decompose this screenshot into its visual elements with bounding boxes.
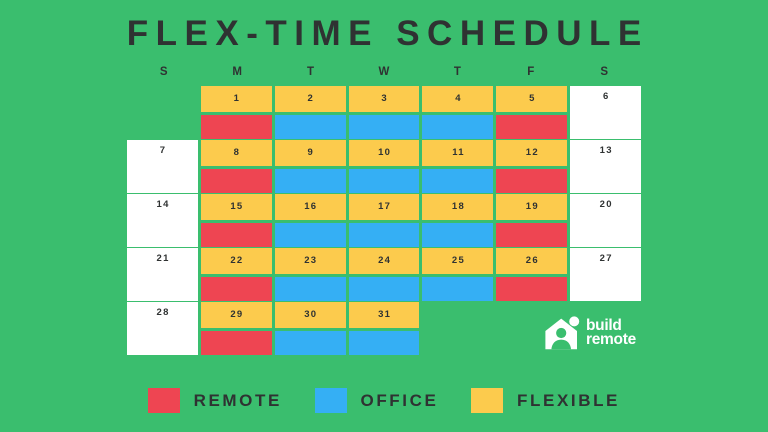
date-number: 13 <box>570 145 641 156</box>
legend-label-flexible: FLEXIBLE <box>514 391 620 411</box>
calendar-cell-weekday[interactable]: 2 <box>275 86 346 139</box>
flexible-band[interactable]: 3 <box>349 86 420 112</box>
mode-band-remote[interactable] <box>496 115 567 139</box>
flexible-band[interactable]: 4 <box>422 86 493 112</box>
day-of-week-header: W <box>347 62 420 84</box>
date-number: 15 <box>201 201 272 212</box>
calendar-cell-empty <box>127 86 198 139</box>
flexible-band[interactable]: 29 <box>201 302 272 328</box>
date-number: 28 <box>127 307 198 318</box>
legend-label-office: OFFICE <box>358 391 439 411</box>
flexible-band[interactable]: 15 <box>201 194 272 220</box>
flexible-band[interactable]: 17 <box>349 194 420 220</box>
mode-band-office[interactable] <box>275 277 346 301</box>
calendar-cell-weekday[interactable]: 29 <box>201 302 272 355</box>
flexible-band[interactable]: 11 <box>422 140 493 166</box>
mode-band-remote[interactable] <box>201 169 272 193</box>
flexible-band[interactable]: 22 <box>201 248 272 274</box>
calendar-week-rows: 1234567891011121314151617181920212223242… <box>127 86 641 355</box>
date-number: 17 <box>349 201 420 212</box>
legend-item-flexible: FLEXIBLE <box>471 388 620 413</box>
calendar-cell-weekday[interactable]: 1 <box>201 86 272 139</box>
mode-band-office[interactable] <box>275 331 346 355</box>
calendar-cell-empty <box>422 302 493 355</box>
date-number: 25 <box>422 255 493 266</box>
flexible-band[interactable]: 18 <box>422 194 493 220</box>
date-number: 23 <box>275 255 346 266</box>
date-number: 6 <box>570 91 641 102</box>
calendar-cell-weekend[interactable]: 27 <box>570 248 641 301</box>
day-of-week-header-row: SMTWTFS <box>127 62 641 84</box>
mode-band-office[interactable] <box>422 223 493 247</box>
date-number: 5 <box>496 93 567 104</box>
mode-band-remote[interactable] <box>496 277 567 301</box>
mode-band-office[interactable] <box>422 277 493 301</box>
day-of-week-header: F <box>494 62 567 84</box>
calendar-cell-weekday[interactable]: 15 <box>201 194 272 247</box>
legend-item-office: OFFICE <box>315 388 439 413</box>
calendar-cell-weekday[interactable]: 10 <box>349 140 420 193</box>
calendar-cell-weekday[interactable]: 17 <box>349 194 420 247</box>
calendar-cell-weekday[interactable]: 4 <box>422 86 493 139</box>
calendar-cell-weekday[interactable]: 23 <box>275 248 346 301</box>
schedule-graphic: FLEX-TIME SCHEDULE SMTWTFS 1234567891011… <box>0 0 768 432</box>
calendar-cell-weekday[interactable]: 25 <box>422 248 493 301</box>
calendar-cell-weekday[interactable]: 16 <box>275 194 346 247</box>
date-number: 20 <box>570 199 641 210</box>
date-number: 11 <box>422 147 493 158</box>
mode-band-office[interactable] <box>275 223 346 247</box>
brand-logo-line-2: remote <box>586 333 636 347</box>
calendar-cell-weekday[interactable]: 3 <box>349 86 420 139</box>
mode-band-office[interactable] <box>275 115 346 139</box>
calendar-cell-weekend[interactable]: 14 <box>127 194 198 247</box>
calendar-cell-weekday[interactable]: 24 <box>349 248 420 301</box>
brand-logo-wordmark: build remote <box>586 319 636 348</box>
calendar-cell-weekday[interactable]: 31 <box>349 302 420 355</box>
flexible-band[interactable]: 19 <box>496 194 567 220</box>
mode-band-office[interactable] <box>349 115 420 139</box>
flexible-band[interactable]: 23 <box>275 248 346 274</box>
date-number: 4 <box>422 93 493 104</box>
date-number: 31 <box>349 309 420 320</box>
mode-band-office[interactable] <box>349 223 420 247</box>
day-of-week-header: M <box>200 62 273 84</box>
date-number: 12 <box>496 147 567 158</box>
date-number: 26 <box>496 255 567 266</box>
calendar-cell-weekday[interactable]: 8 <box>201 140 272 193</box>
flexible-band[interactable]: 25 <box>422 248 493 274</box>
flexible-band[interactable]: 24 <box>349 248 420 274</box>
mode-band-remote[interactable] <box>201 115 272 139</box>
date-number: 19 <box>496 201 567 212</box>
calendar-cell-weekday[interactable]: 11 <box>422 140 493 193</box>
calendar-week-row: 78910111213 <box>127 140 641 193</box>
house-person-icon <box>544 316 580 350</box>
calendar-grid: SMTWTFS 12345678910111213141516171819202… <box>127 62 641 356</box>
calendar-week-row: 14151617181920 <box>127 194 641 247</box>
flexible-band[interactable]: 8 <box>201 140 272 166</box>
legend-swatch-remote <box>148 388 180 413</box>
flexible-band[interactable]: 16 <box>275 194 346 220</box>
day-of-week-header: T <box>421 62 494 84</box>
date-number: 29 <box>201 309 272 320</box>
date-number: 30 <box>275 309 346 320</box>
mode-band-office[interactable] <box>422 115 493 139</box>
date-number: 8 <box>201 147 272 158</box>
mode-band-remote[interactable] <box>201 331 272 355</box>
legend-swatch-office <box>315 388 347 413</box>
day-of-week-header: T <box>274 62 347 84</box>
flexible-band[interactable]: 5 <box>496 86 567 112</box>
flexible-band[interactable]: 10 <box>349 140 420 166</box>
flexible-band[interactable]: 26 <box>496 248 567 274</box>
page-title: FLEX-TIME SCHEDULE <box>0 14 768 54</box>
calendar-cell-weekday[interactable]: 18 <box>422 194 493 247</box>
legend: REMOTEOFFICEFLEXIBLE <box>0 388 768 413</box>
date-number: 16 <box>275 201 346 212</box>
mode-band-office[interactable] <box>349 277 420 301</box>
flexible-band[interactable]: 1 <box>201 86 272 112</box>
calendar-cell-weekend[interactable]: 6 <box>570 86 641 139</box>
calendar-cell-weekend[interactable]: 13 <box>570 140 641 193</box>
day-of-week-header: S <box>127 62 200 84</box>
brand-logo: build remote <box>544 316 636 350</box>
calendar-cell-weekday[interactable]: 26 <box>496 248 567 301</box>
date-number: 10 <box>349 147 420 158</box>
legend-swatch-flexible <box>471 388 503 413</box>
calendar-cell-weekday[interactable]: 5 <box>496 86 567 139</box>
calendar-week-row: 21222324252627 <box>127 248 641 301</box>
flexible-band[interactable]: 2 <box>275 86 346 112</box>
date-number: 3 <box>349 93 420 104</box>
calendar-cell-weekday[interactable]: 30 <box>275 302 346 355</box>
date-number: 27 <box>570 253 641 264</box>
date-number: 21 <box>127 253 198 264</box>
flexible-band[interactable]: 12 <box>496 140 567 166</box>
mode-band-office[interactable] <box>349 169 420 193</box>
date-number: 14 <box>127 199 198 210</box>
day-of-week-header: S <box>568 62 641 84</box>
legend-label-remote: REMOTE <box>191 391 282 411</box>
calendar-cell-weekday[interactable]: 12 <box>496 140 567 193</box>
date-number: 18 <box>422 201 493 212</box>
calendar-cell-weekend[interactable]: 20 <box>570 194 641 247</box>
calendar-cell-weekend[interactable]: 28 <box>127 302 198 355</box>
date-number: 7 <box>127 145 198 156</box>
legend-item-remote: REMOTE <box>148 388 282 413</box>
calendar-week-row: 123456 <box>127 86 641 139</box>
mode-band-remote[interactable] <box>201 277 272 301</box>
flexible-band[interactable]: 9 <box>275 140 346 166</box>
calendar-cell-weekend[interactable]: 7 <box>127 140 198 193</box>
date-number: 2 <box>275 93 346 104</box>
flexible-band[interactable]: 30 <box>275 302 346 328</box>
flexible-band[interactable]: 31 <box>349 302 420 328</box>
mode-band-office[interactable] <box>349 331 420 355</box>
date-number: 1 <box>201 93 272 104</box>
date-number: 9 <box>275 147 346 158</box>
mode-band-office[interactable] <box>275 169 346 193</box>
calendar-cell-weekday[interactable]: 22 <box>201 248 272 301</box>
mode-band-office[interactable] <box>422 169 493 193</box>
mode-band-remote[interactable] <box>201 223 272 247</box>
mode-band-remote[interactable] <box>496 169 567 193</box>
mode-band-remote[interactable] <box>496 223 567 247</box>
calendar-cell-weekday[interactable]: 9 <box>275 140 346 193</box>
calendar-cell-weekend[interactable]: 21 <box>127 248 198 301</box>
date-number: 24 <box>349 255 420 266</box>
calendar-cell-weekday[interactable]: 19 <box>496 194 567 247</box>
date-number: 22 <box>201 255 272 266</box>
